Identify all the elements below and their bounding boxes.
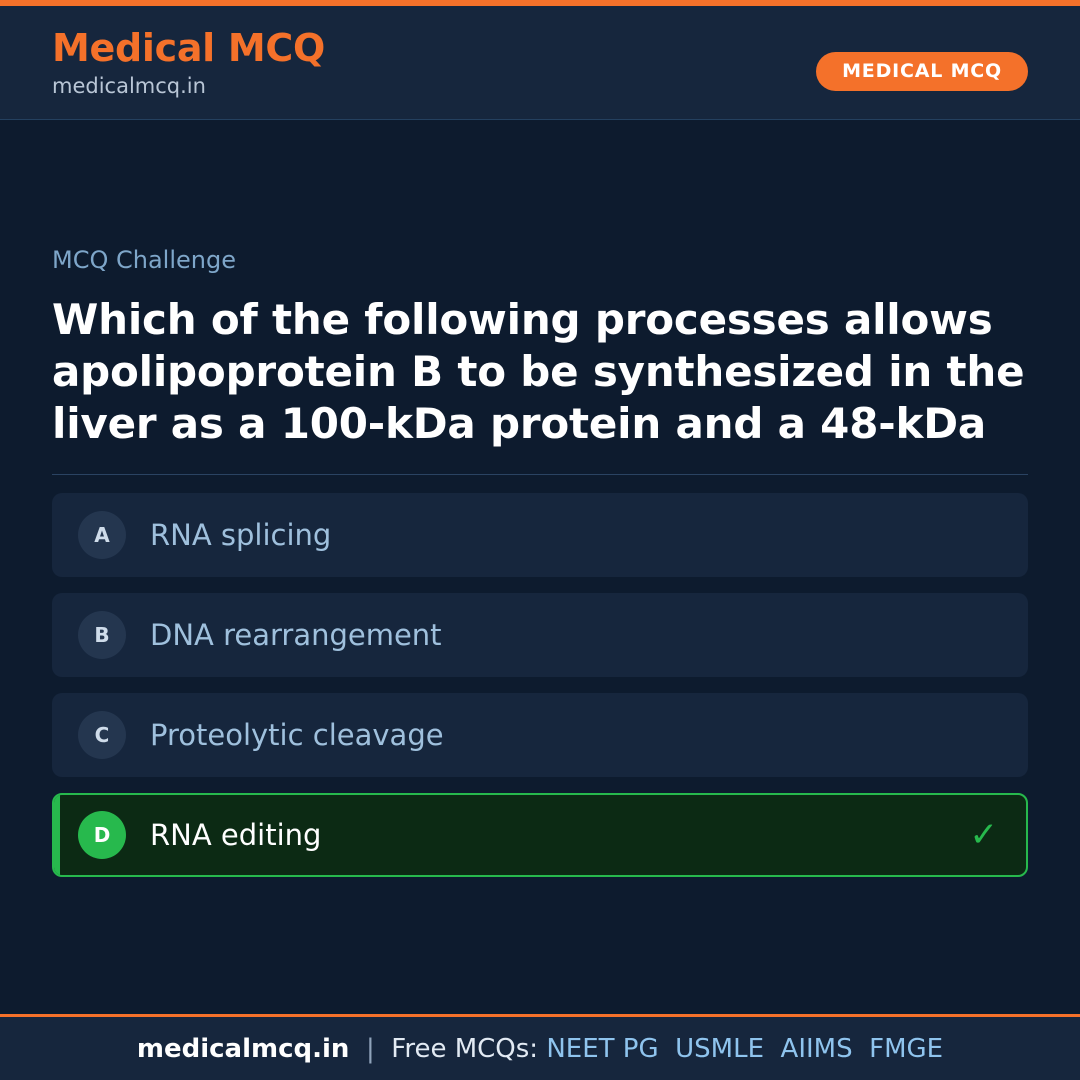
option-label: Proteolytic cleavage <box>150 721 444 750</box>
option-b[interactable]: B DNA rearrangement <box>52 593 1028 677</box>
main-content: MCQ Challenge Which of the following pro… <box>0 120 1080 1014</box>
footer: medicalmcq.in | Free MCQs: NEET PG USMLE… <box>0 1014 1080 1080</box>
question-text: Which of the following processes allows … <box>52 294 1028 450</box>
brand-block: Medical MCQ medicalmcq.in <box>52 29 325 97</box>
option-letter: B <box>78 611 126 659</box>
checkmark-icon: ✓ <box>970 818 999 852</box>
brand-subtitle: medicalmcq.in <box>52 76 325 97</box>
kicker-label: MCQ Challenge <box>52 248 1028 272</box>
option-letter: A <box>78 511 126 559</box>
brand-title: Medical MCQ <box>52 29 325 67</box>
option-label: DNA rearrangement <box>150 621 442 650</box>
footer-site: medicalmcq.in <box>137 1036 350 1062</box>
options-list: A RNA splicing B DNA rearrangement C Pro… <box>52 493 1028 877</box>
divider <box>52 474 1028 475</box>
option-letter: D <box>78 811 126 859</box>
option-d[interactable]: D RNA editing ✓ <box>52 793 1028 877</box>
option-a[interactable]: A RNA splicing <box>52 493 1028 577</box>
footer-separator: | <box>349 1036 391 1062</box>
footer-exams: NEET PG USMLE AIIMS FMGE <box>546 1036 943 1062</box>
option-letter: C <box>78 711 126 759</box>
footer-label: Free MCQs: <box>391 1036 546 1062</box>
option-label: RNA editing <box>150 821 321 850</box>
mcq-card: Medical MCQ medicalmcq.in MEDICAL MCQ MC… <box>0 0 1080 1080</box>
badge-medical-mcq: MEDICAL MCQ <box>816 52 1028 91</box>
option-label: RNA splicing <box>150 521 331 550</box>
option-c[interactable]: C Proteolytic cleavage <box>52 693 1028 777</box>
header: Medical MCQ medicalmcq.in MEDICAL MCQ <box>0 6 1080 120</box>
